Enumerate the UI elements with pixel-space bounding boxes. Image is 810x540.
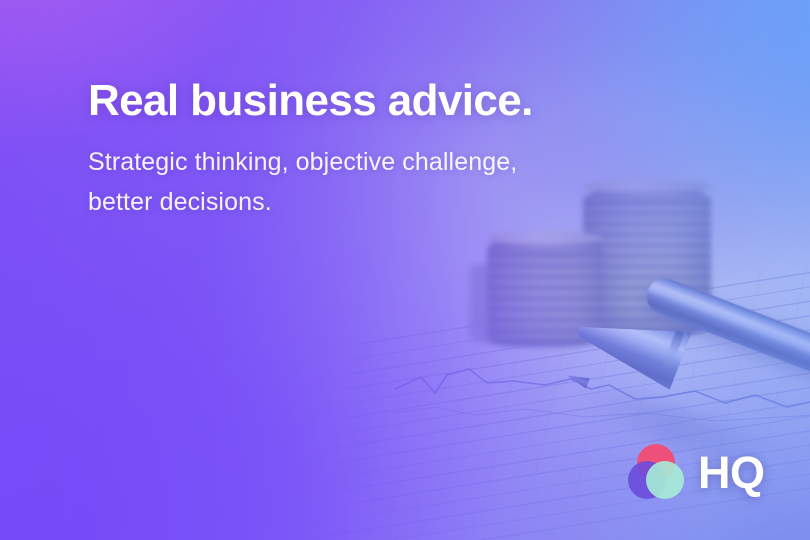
subheadline-line-1: Strategic thinking, objective challenge, — [88, 142, 608, 183]
brand-logo: HQ — [628, 444, 765, 500]
logo-wordmark: HQ — [698, 450, 765, 495]
circle-mint-icon — [646, 461, 684, 499]
subheadline: Strategic thinking, objective challenge,… — [88, 142, 608, 223]
copy-block: Real business advice. Strategic thinking… — [88, 78, 608, 223]
subheadline-line-2: better decisions. — [88, 182, 608, 223]
venn-circles-icon — [628, 444, 684, 500]
promo-banner: Real business advice. Strategic thinking… — [0, 0, 810, 540]
headline: Real business advice. — [88, 78, 608, 125]
